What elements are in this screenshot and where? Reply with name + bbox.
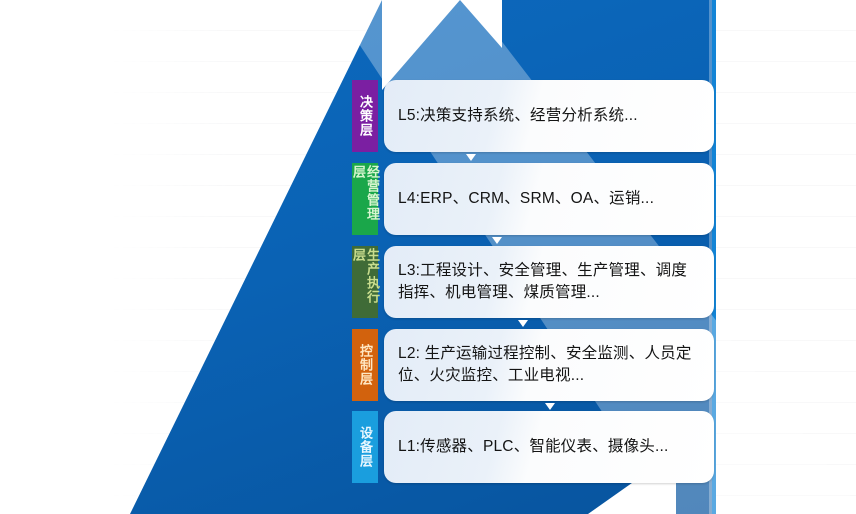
level-connector-arrow-icon <box>492 237 502 244</box>
level-card-text-l3: L3:工程设计、安全管理、生产管理、调度指挥、机电管理、煤质管理... <box>398 260 687 304</box>
level-card-l5[interactable]: L5:决策支持系统、经营分析系统... <box>384 80 714 152</box>
pyramid-level-l4[interactable]: 经营管理层L4:ERP、CRM、SRM、OA、运销... <box>352 163 714 235</box>
level-text-line: L5:决策支持系统、经营分析系统... <box>398 105 638 127</box>
level-connector-arrow-icon <box>466 154 476 161</box>
level-text-line: L3:工程设计、安全管理、生产管理、调度 <box>398 260 687 282</box>
pyramid-level-l5[interactable]: 决策层L5:决策支持系统、经营分析系统... <box>352 80 714 152</box>
pyramid-level-l2[interactable]: 控制层L2: 生产运输过程控制、安全监测、人员定位、火灾监控、工业电视... <box>352 329 714 401</box>
level-card-text-l5: L5:决策支持系统、经营分析系统... <box>398 105 638 127</box>
level-card-l1[interactable]: L1:传感器、PLC、智能仪表、摄像头... <box>384 411 714 483</box>
pyramid-level-l3[interactable]: 生产执行层L3:工程设计、安全管理、生产管理、调度指挥、机电管理、煤质管理... <box>352 246 714 318</box>
level-tab-l4[interactable]: 经营管理层 <box>352 163 378 235</box>
level-text-line: L2: 生产运输过程控制、安全监测、人员定 <box>398 343 692 365</box>
diagram-canvas: 决策层L5:决策支持系统、经营分析系统...经营管理层L4:ERP、CRM、SR… <box>0 0 856 514</box>
level-tab-l2[interactable]: 控制层 <box>352 329 378 401</box>
level-connector-arrow-icon <box>518 320 528 327</box>
level-card-text-l2: L2: 生产运输过程控制、安全监测、人员定位、火灾监控、工业电视... <box>398 343 692 387</box>
level-tab-l5[interactable]: 决策层 <box>352 80 378 152</box>
level-card-l3[interactable]: L3:工程设计、安全管理、生产管理、调度指挥、机电管理、煤质管理... <box>384 246 714 318</box>
level-text-line: L1:传感器、PLC、智能仪表、摄像头... <box>398 436 669 458</box>
level-tab-l3[interactable]: 生产执行层 <box>352 246 378 318</box>
level-tab-l1[interactable]: 设备层 <box>352 411 378 483</box>
level-card-l2[interactable]: L2: 生产运输过程控制、安全监测、人员定位、火灾监控、工业电视... <box>384 329 714 401</box>
level-card-l4[interactable]: L4:ERP、CRM、SRM、OA、运销... <box>384 163 714 235</box>
level-text-line: 指挥、机电管理、煤质管理... <box>398 282 687 304</box>
level-connector-arrow-icon <box>545 403 555 410</box>
pyramid-level-l1[interactable]: 设备层L1:传感器、PLC、智能仪表、摄像头... <box>352 411 714 483</box>
level-text-line: L4:ERP、CRM、SRM、OA、运销... <box>398 188 654 210</box>
pyramid-levels: 决策层L5:决策支持系统、经营分析系统...经营管理层L4:ERP、CRM、SR… <box>0 0 856 514</box>
level-card-text-l1: L1:传感器、PLC、智能仪表、摄像头... <box>398 436 669 458</box>
level-card-text-l4: L4:ERP、CRM、SRM、OA、运销... <box>398 188 654 210</box>
level-text-line: 位、火灾监控、工业电视... <box>398 365 692 387</box>
